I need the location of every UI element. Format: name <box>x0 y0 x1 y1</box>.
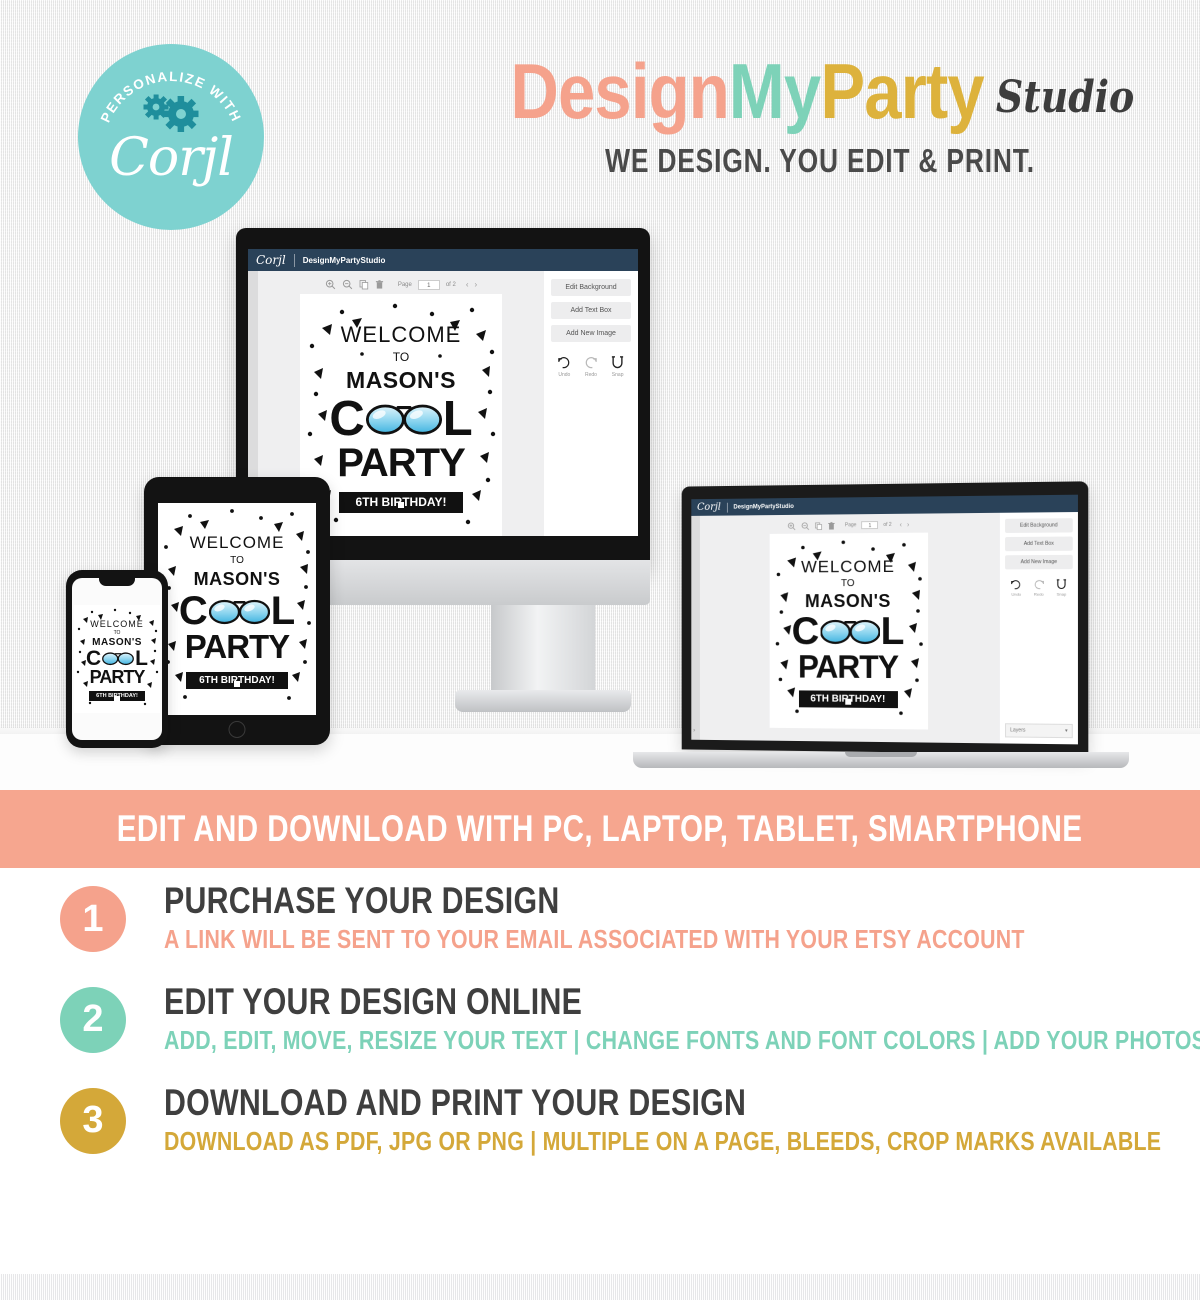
devices-banner: EDIT AND DOWNLOAD WITH PC, LAPTOP, TABLE… <box>0 790 1200 868</box>
laptop-base-notch <box>845 752 917 757</box>
brand-part-design: Design <box>510 47 728 135</box>
design-card[interactable]: WELCOME TO MASON'S C <box>300 294 502 536</box>
sunglasses-icon <box>366 401 442 437</box>
layers-dropdown[interactable]: Layers ▾ <box>1005 723 1073 738</box>
card-party-text: PARTY <box>798 648 898 685</box>
card-party-text: PARTY <box>337 441 465 486</box>
page-number-input[interactable]: 1 <box>418 280 440 290</box>
bottom-texture-strip <box>0 1274 1200 1300</box>
tablet-home-button[interactable] <box>229 721 246 738</box>
card-cool-c: C <box>792 613 820 650</box>
card-cool-l: L <box>271 592 295 630</box>
card-name-text: MASON'S <box>346 367 456 394</box>
trash-icon[interactable] <box>827 521 835 530</box>
step-item: 2 EDIT YOUR DESIGN ONLINE ADD, EDIT, MOV… <box>0 969 1200 1070</box>
prev-page-icon[interactable]: ‹ <box>900 521 902 528</box>
undo-button[interactable]: Undo <box>557 355 572 378</box>
phone-notch <box>99 578 135 586</box>
brand-header: DesignMyPartyStudio WE DESIGN. YOU EDIT … <box>460 52 1180 180</box>
monitor-stand-base <box>455 690 631 712</box>
topbar-divider <box>727 502 728 512</box>
devices-banner-text: EDIT AND DOWNLOAD WITH PC, LAPTOP, TABLE… <box>117 808 1083 850</box>
edit-background-button[interactable]: Edit Background <box>551 279 631 296</box>
undo-icon <box>557 355 572 370</box>
step-title: DOWNLOAD AND PRINT YOUR DESIGN <box>164 1084 1161 1123</box>
card-to-text: TO <box>393 350 409 364</box>
step-item: 1 PURCHASE YOUR DESIGN A LINK WILL BE SE… <box>0 868 1200 969</box>
step-description: DOWNLOAD AS PDF, JPG OR PNG | MULTIPLE O… <box>164 1126 1161 1157</box>
step-number-badge: 1 <box>60 886 126 952</box>
steps-section: 1 PURCHASE YOUR DESIGN A LINK WILL BE SE… <box>0 868 1200 1171</box>
editor-right-panel: Edit Background Add Text Box Add New Ima… <box>544 271 638 536</box>
add-new-image-button[interactable]: Add New Image <box>551 325 631 342</box>
snap-button[interactable]: Snap <box>1055 578 1067 596</box>
step-description: ADD, EDIT, MOVE, RESIZE YOUR TEXT | CHAN… <box>164 1025 1200 1056</box>
page-label: Page <box>398 282 412 288</box>
card-cool-l: L <box>443 396 473 443</box>
corjl-logo: Corjl <box>697 502 721 513</box>
snap-button[interactable]: Snap <box>610 355 625 378</box>
card-welcome-text: WELCOME <box>90 619 144 629</box>
card-to-text: TO <box>841 579 855 590</box>
redo-label: Redo <box>583 372 598 378</box>
card-welcome-text: WELCOME <box>801 557 895 577</box>
step-item: 3 DOWNLOAD AND PRINT YOUR DESIGN DOWNLOA… <box>0 1070 1200 1171</box>
snap-icon <box>1055 578 1067 590</box>
page-number-input[interactable]: 1 <box>861 521 878 529</box>
chevron-down-icon: ▾ <box>1065 728 1068 734</box>
next-page-icon[interactable]: › <box>907 521 909 528</box>
step-number-badge: 2 <box>60 987 126 1053</box>
expand-rail-icon[interactable]: › <box>693 728 695 734</box>
brand-part-party: Party <box>820 47 984 135</box>
layers-label: Layers <box>1010 727 1025 733</box>
laptop-right-panel: Edit Background Add Text Box Add New Ima… <box>1000 512 1078 744</box>
card-cool-c: C <box>329 396 364 443</box>
card-name-text: MASON'S <box>194 569 281 590</box>
redo-button[interactable]: Redo <box>1033 578 1045 596</box>
undo-button[interactable]: Undo <box>1010 578 1022 596</box>
card-cool-c: C <box>86 649 101 669</box>
redo-icon <box>583 355 598 370</box>
next-page-icon[interactable]: › <box>475 280 478 289</box>
editor-brand-name: DesignMyPartyStudio <box>733 503 793 510</box>
undo-icon <box>1010 578 1022 590</box>
page-title: DesignMyPartyStudio <box>510 52 1129 130</box>
hero-section: PERSONALIZE WITH <box>0 0 1200 790</box>
laptop-corjl-editor: Corjl DesignMyPartyStudio › P <box>691 495 1078 745</box>
laptop-canvas-area: Page 1 of 2 ‹ › <box>700 513 1000 744</box>
add-new-image-button[interactable]: Add New Image <box>1005 555 1073 570</box>
laptop: Corjl DesignMyPartyStudio › P <box>682 481 1089 754</box>
add-text-box-button[interactable]: Add Text Box <box>1005 537 1073 552</box>
page-total-label: of 2 <box>883 522 891 528</box>
card-name-text: MASON'S <box>805 591 891 612</box>
card-ribbon-text: 6TH BIRTHDAY! <box>798 690 897 708</box>
card-ribbon-text: 6TH BIRTHDAY! <box>89 691 145 701</box>
topbar-divider <box>294 254 295 267</box>
undo-label: Undo <box>557 372 572 378</box>
design-card[interactable]: WELCOME TO MASON'S C L PARTY 6TH BIRTHDA… <box>74 605 160 713</box>
card-party-text: PARTY <box>185 628 289 666</box>
step-title: PURCHASE YOUR DESIGN <box>164 882 1025 921</box>
editor-topbar: Corjl DesignMyPartyStudio <box>248 249 638 271</box>
sunglasses-icon <box>102 651 134 666</box>
sunglasses-icon <box>820 617 879 646</box>
design-card[interactable]: WELCOME TO MASON'S C <box>769 533 927 730</box>
trash-icon[interactable] <box>375 279 384 290</box>
smartphone: WELCOME TO MASON'S C L PARTY 6TH BIRTHDA… <box>66 570 168 748</box>
edit-background-button[interactable]: Edit Background <box>1005 518 1073 533</box>
redo-label: Redo <box>1033 592 1045 597</box>
editor-brand-name: DesignMyPartyStudio <box>303 256 386 265</box>
zoom-out-icon[interactable] <box>342 279 353 290</box>
card-cool-l: L <box>135 649 148 669</box>
card-ribbon-text: 6TH BIRTHDAY! <box>339 492 463 513</box>
laptop-left-rail[interactable]: › <box>691 516 700 740</box>
zoom-in-icon[interactable] <box>787 521 796 530</box>
badge-wordmark: Corjl <box>78 132 264 184</box>
sunglasses-icon <box>209 597 270 626</box>
undo-label: Undo <box>1010 592 1022 597</box>
snap-icon <box>610 355 625 370</box>
laptop-editor-body: › Page 1 of 2 ‹ › <box>691 512 1078 744</box>
design-card[interactable]: WELCOME TO MASON'S C L PARTY 6TH BIRTHDA… <box>158 503 316 715</box>
brand-tagline: WE DESIGN. YOU EDIT & PRINT. <box>532 142 1108 180</box>
card-party-text: PARTY <box>90 667 145 688</box>
duplicate-icon[interactable] <box>814 521 822 530</box>
add-text-box-button[interactable]: Add Text Box <box>551 302 631 319</box>
page-total-label: of 2 <box>446 282 456 288</box>
editor-toolbar: Page 1 of 2 ‹ › <box>325 275 477 294</box>
duplicate-icon[interactable] <box>359 279 369 290</box>
page-label: Page <box>845 522 857 528</box>
snap-label: Snap <box>1055 592 1067 597</box>
card-welcome-text: WELCOME <box>341 322 462 348</box>
card-to-text: TO <box>230 555 244 566</box>
prev-page-icon[interactable]: ‹ <box>466 280 469 289</box>
corjl-logo: Corjl <box>256 253 286 267</box>
laptop-editor-toolbar: Page 1 of 2 ‹ › <box>787 517 909 534</box>
redo-icon <box>1033 578 1045 590</box>
brand-part-my: My <box>729 47 820 135</box>
zoom-out-icon[interactable] <box>801 521 810 530</box>
step-title: EDIT YOUR DESIGN ONLINE <box>164 983 1200 1022</box>
redo-button[interactable]: Redo <box>583 355 598 378</box>
card-to-text: TO <box>114 630 121 636</box>
monitor-stand-neck <box>491 605 595 695</box>
snap-label: Snap <box>610 372 625 378</box>
card-ribbon-text: 6TH BIRTHDAY! <box>186 672 288 689</box>
step-description: A LINK WILL BE SENT TO YOUR EMAIL ASSOCI… <box>164 924 1025 955</box>
card-welcome-text: WELCOME <box>190 533 285 553</box>
zoom-in-icon[interactable] <box>325 279 336 290</box>
step-number-badge: 3 <box>60 1088 126 1154</box>
card-cool-c: C <box>179 592 208 630</box>
card-cool-l: L <box>881 613 905 650</box>
personalize-with-corjl-badge: PERSONALIZE WITH <box>78 44 264 230</box>
brand-studio-script: Studio <box>996 72 1134 123</box>
tablet: WELCOME TO MASON'S C L PARTY 6TH BIRTHDA… <box>144 477 330 745</box>
card-name-text: MASON'S <box>92 637 142 648</box>
